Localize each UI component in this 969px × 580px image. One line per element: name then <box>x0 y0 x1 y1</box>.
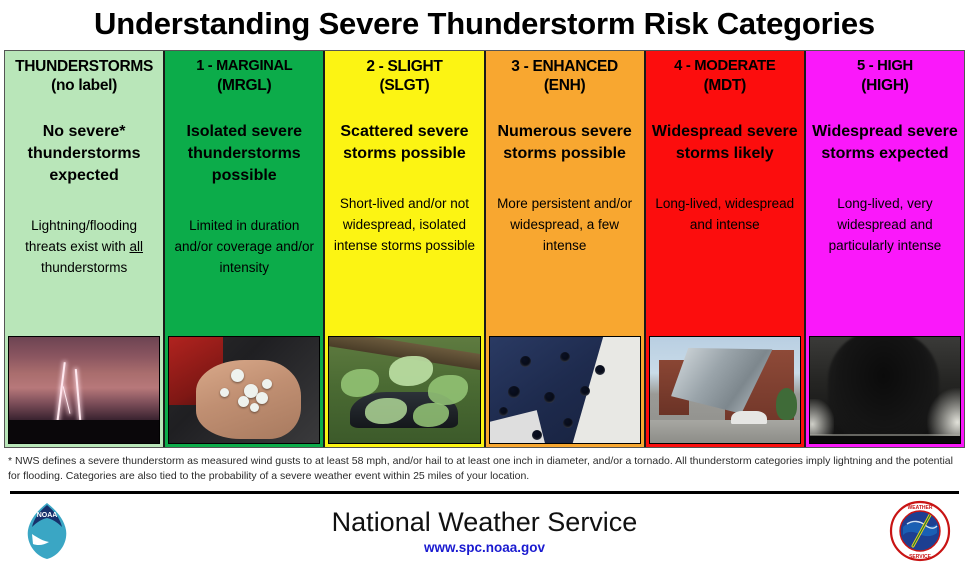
category-detail: Lightning/flooding threats exist with al… <box>11 215 157 278</box>
detail-text-pre: Lightning/flooding threats exist with <box>25 218 137 254</box>
category-abbreviation: (ENH) <box>492 76 638 95</box>
category-detail: Limited in duration and/or coverage and/… <box>171 215 317 278</box>
category-abbreviation: (no label) <box>11 76 157 95</box>
agency-name: National Weather Service <box>332 506 638 538</box>
risk-column-thunderstorms: THUNDERSTORMS (no label) No severe* thun… <box>5 51 165 447</box>
category-detail: Short-lived and/or not widespread, isola… <box>331 193 477 256</box>
svg-text:WEATHER: WEATHER <box>908 505 933 511</box>
risk-column-enhanced: 3 - ENHANCED (ENH) Numerous severe storm… <box>486 51 646 447</box>
category-abbreviation: (MRGL) <box>171 76 317 95</box>
category-name: 5 - HIGH <box>812 57 958 76</box>
hail-dent-icon <box>544 392 555 403</box>
lightning-bolt-icon <box>74 369 80 420</box>
category-abbreviation: (HIGH) <box>812 76 958 95</box>
category-detail: More persistent and/or widespread, a few… <box>492 193 638 256</box>
category-name: 1 - MARGINAL <box>171 57 317 76</box>
category-detail: Long-lived, very widespread and particul… <box>812 193 958 256</box>
tornado-photo <box>809 336 961 444</box>
footnote: * NWS defines a severe thunderstorm as m… <box>8 454 961 483</box>
category-name: THUNDERSTORMS <box>11 57 157 76</box>
detail-text-underlined: all <box>129 239 143 254</box>
category-headline: Numerous severe storms possible <box>492 121 638 165</box>
category-headline: Widespread severe storms expected <box>812 121 958 165</box>
risk-column-text: 2 - SLIGHT (SLGT) Scattered severe storm… <box>325 51 483 334</box>
category-abbreviation: (MDT) <box>652 76 798 95</box>
hailstone-icon <box>231 369 244 382</box>
category-headline: Scattered severe storms possible <box>331 121 477 165</box>
photo-sky-glow <box>927 388 960 437</box>
lightning-photo <box>8 336 160 444</box>
photo-foliage <box>428 375 468 405</box>
risk-column-text: THUNDERSTORMS (no label) No severe* thun… <box>5 51 163 334</box>
footer-branding: National Weather Service www.spc.noaa.go… <box>332 506 638 555</box>
hail-dent-icon <box>499 407 508 416</box>
category-name: 3 - ENHANCED <box>492 57 638 76</box>
category-name: 2 - SLIGHT <box>331 57 477 76</box>
hail-dent-icon <box>520 356 531 367</box>
photo-car <box>731 411 767 424</box>
detail-text-post: thunderstorms <box>41 260 127 275</box>
page-title: Understanding Severe Thunderstorm Risk C… <box>0 0 969 50</box>
noaa-logo-icon: NOAA <box>16 500 78 562</box>
category-headline: No severe* thunderstorms expected <box>11 121 157 187</box>
footer: NOAA National Weather Service www.spc.no… <box>0 494 969 566</box>
risk-category-table: THUNDERSTORMS (no label) No severe* thun… <box>4 50 965 448</box>
photo-car-edge <box>489 410 554 444</box>
risk-column-slight: 2 - SLIGHT (SLGT) Scattered severe storm… <box>325 51 485 447</box>
severe-thunderstorm-risk-poster: Understanding Severe Thunderstorm Risk C… <box>0 0 969 580</box>
photo-foliage <box>776 388 797 420</box>
photo-foliage <box>389 356 433 386</box>
hail-dent-icon <box>580 386 590 396</box>
photo-parking-lot <box>650 420 800 443</box>
tree-on-car-photo <box>328 336 480 444</box>
photo-sky-glow <box>810 399 834 435</box>
svg-text:SERVICE: SERVICE <box>909 554 932 560</box>
category-headline: Isolated severe thunderstorms possible <box>171 121 317 187</box>
tornado-funnel <box>828 336 939 443</box>
hail-dent-icon <box>532 430 542 440</box>
risk-column-marginal: 1 - MARGINAL (MRGL) Isolated severe thun… <box>165 51 325 447</box>
hail-dent-icon <box>560 352 570 362</box>
category-abbreviation: (SLGT) <box>331 76 477 95</box>
photo-ground <box>9 420 159 443</box>
nws-logo-icon: WEATHER SERVICE <box>889 500 951 562</box>
category-name: 4 - MODERATE <box>652 57 798 76</box>
risk-column-high: 5 - HIGH (HIGH) Widespread severe storms… <box>806 51 964 447</box>
hail-in-hand-photo <box>168 336 320 444</box>
damaged-building-photo <box>649 336 801 444</box>
hail-dent-icon <box>595 365 605 375</box>
hailstone-icon <box>250 403 259 412</box>
photo-ground <box>810 436 960 443</box>
category-detail: Long-lived, widespread and intense <box>652 193 798 235</box>
risk-column-text: 1 - MARGINAL (MRGL) Isolated severe thun… <box>165 51 323 334</box>
hail-dent-icon <box>563 418 573 428</box>
hail-damaged-car-roof-photo <box>489 336 641 444</box>
risk-column-text: 4 - MODERATE (MDT) Widespread severe sto… <box>646 51 804 334</box>
lightning-bolt-icon <box>63 386 71 413</box>
agency-url[interactable]: www.spc.noaa.gov <box>332 540 638 555</box>
risk-column-text: 5 - HIGH (HIGH) Widespread severe storms… <box>806 51 964 334</box>
category-headline: Widespread severe storms likely <box>652 121 798 165</box>
hail-dent-icon <box>508 386 520 398</box>
svg-text:NOAA: NOAA <box>37 512 58 519</box>
risk-column-moderate: 4 - MODERATE (MDT) Widespread severe sto… <box>646 51 806 447</box>
risk-column-text: 3 - ENHANCED (ENH) Numerous severe storm… <box>486 51 644 334</box>
